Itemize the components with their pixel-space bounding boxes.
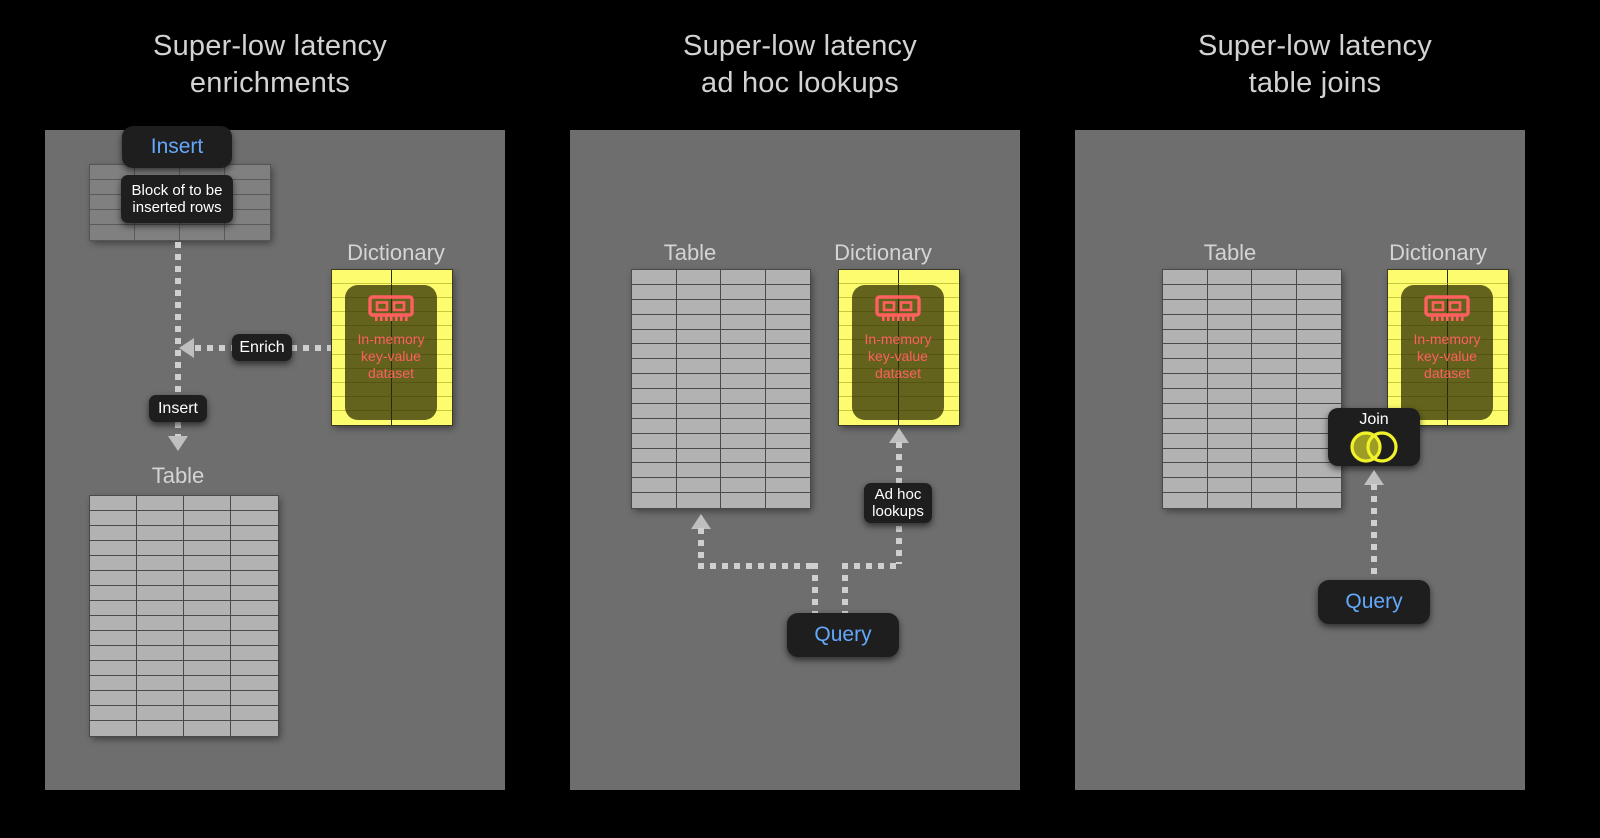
- connector-query-left-down: [812, 563, 818, 615]
- grid-cell: [90, 691, 137, 706]
- grid-cell: [137, 661, 184, 676]
- callout-join[interactable]: Join: [1328, 408, 1420, 466]
- grid-cell: [231, 541, 278, 556]
- grid-cell: [231, 661, 278, 676]
- grid-cell: [90, 631, 137, 646]
- in-memory-text-p3: In-memory key-value dataset: [1414, 331, 1481, 382]
- grid-cell: [677, 285, 722, 300]
- grid-cell: [1252, 404, 1297, 419]
- grid-cell: [677, 330, 722, 345]
- grid-cell: [1252, 270, 1297, 285]
- grid-cell: [1208, 463, 1253, 478]
- grid-cell: [632, 300, 677, 315]
- grid-cell: [90, 601, 137, 616]
- grid-cell: [1163, 434, 1208, 449]
- grid-cell: [677, 344, 722, 359]
- grid-cell: [184, 631, 231, 646]
- grid-cell: [184, 646, 231, 661]
- grid-cell: [766, 270, 811, 285]
- grid-cell: [632, 270, 677, 285]
- grid-cell: [766, 285, 811, 300]
- grid-cell: [677, 300, 722, 315]
- grid-cell: [721, 419, 766, 434]
- grid-cell: [231, 691, 278, 706]
- connector-query-right-horizontal: [842, 563, 902, 569]
- callout-ad-hoc-label: Ad hoc lookups: [872, 486, 924, 520]
- table-grid-p2: [632, 270, 810, 508]
- grid-cell: [184, 511, 231, 526]
- grid-cell: [1252, 359, 1297, 374]
- grid-cell: [1297, 389, 1342, 404]
- grid-cell: [137, 601, 184, 616]
- grid-cell: [766, 344, 811, 359]
- grid-cell: [1448, 270, 1508, 284]
- grid-cell: [1252, 300, 1297, 315]
- grid-cell: [766, 493, 811, 508]
- grid-cell: [135, 225, 180, 240]
- callout-query-p3-label: Query: [1345, 590, 1402, 614]
- grid-cell: [231, 586, 278, 601]
- grid-cell: [1297, 359, 1342, 374]
- grid-cell: [677, 374, 722, 389]
- grid-cell: [137, 721, 184, 736]
- grid-cell: [632, 463, 677, 478]
- panel-body-ad-hoc: Table Dictionary: [570, 130, 1020, 790]
- grid-cell: [1297, 285, 1342, 300]
- grid-cell: [137, 556, 184, 571]
- grid-cell: [766, 419, 811, 434]
- grid-cell: [90, 586, 137, 601]
- arrow-enrich-left: [179, 338, 194, 358]
- grid-cell: [721, 315, 766, 330]
- grid-cell: [1208, 374, 1253, 389]
- grid-cell: [766, 404, 811, 419]
- grid-cell: [677, 434, 722, 449]
- grid-cell: [632, 389, 677, 404]
- grid-cell: [184, 571, 231, 586]
- grid-cell: [231, 496, 278, 511]
- grid-cell: [137, 511, 184, 526]
- grid-cell: [90, 541, 137, 556]
- grid-cell: [1252, 434, 1297, 449]
- grid-cell: [90, 661, 137, 676]
- grid-cell: [1208, 434, 1253, 449]
- grid-cell: [225, 225, 270, 240]
- grid-cell: [766, 374, 811, 389]
- grid-cell: [839, 270, 899, 284]
- grid-cell: [137, 496, 184, 511]
- grid-cell: [1252, 463, 1297, 478]
- callout-block-rows-label: Block of to be inserted rows: [132, 182, 223, 216]
- callout-insert-mid[interactable]: Insert: [149, 395, 207, 422]
- grid-cell: [231, 676, 278, 691]
- grid-cell: [137, 706, 184, 721]
- grid-cell: [721, 300, 766, 315]
- grid-cell: [677, 359, 722, 374]
- label-table-p1: Table: [123, 463, 233, 489]
- grid-cell: [184, 691, 231, 706]
- grid-cell: [90, 571, 137, 586]
- grid-cell: [90, 496, 137, 511]
- grid-cell: [1163, 330, 1208, 345]
- grid-cell: [632, 359, 677, 374]
- grid-cell: [721, 285, 766, 300]
- grid-cell: [721, 344, 766, 359]
- callout-insert-top[interactable]: Insert: [122, 126, 232, 168]
- callout-query-p3[interactable]: Query: [1318, 580, 1430, 624]
- grid-cell: [392, 270, 452, 284]
- grid-cell: [632, 419, 677, 434]
- grid-cell: [137, 631, 184, 646]
- grid-cell: [90, 706, 137, 721]
- grid-cell: [1252, 330, 1297, 345]
- grid-cell: [677, 493, 722, 508]
- grid-cell: [1252, 315, 1297, 330]
- grid-cell: [1208, 449, 1253, 464]
- grid-cell: [1163, 463, 1208, 478]
- grid-cell: [1297, 270, 1342, 285]
- callout-insert-top-label: Insert: [151, 135, 204, 159]
- grid-cell: [1252, 344, 1297, 359]
- grid-cell: [137, 691, 184, 706]
- in-memory-text-p1: In-memory key-value dataset: [358, 331, 425, 382]
- grid-cell: [1163, 493, 1208, 508]
- grid-cell: [766, 300, 811, 315]
- grid-cell: [231, 631, 278, 646]
- grid-cell: [721, 434, 766, 449]
- grid-cell: [632, 344, 677, 359]
- grid-cell: [632, 449, 677, 464]
- grid-cell: [1208, 344, 1253, 359]
- label-table-p2: Table: [635, 240, 745, 266]
- grid-cell: [231, 556, 278, 571]
- grid-cell: [632, 374, 677, 389]
- grid-cell: [90, 511, 137, 526]
- connector-join-vertical: [1371, 484, 1377, 582]
- grid-cell: [766, 463, 811, 478]
- grid-cell: [1163, 419, 1208, 434]
- grid-cell: [1208, 359, 1253, 374]
- arrow-query-to-join: [1364, 470, 1384, 485]
- grid-cell: [677, 389, 722, 404]
- grid-cell: [137, 586, 184, 601]
- grid-cell: [90, 556, 137, 571]
- grid-cell: [721, 359, 766, 374]
- grid-cell: [721, 270, 766, 285]
- grid-cell: [90, 225, 135, 240]
- grid-cell: [1297, 300, 1342, 315]
- panel-table-joins: Super-low latency table joins Table: [1045, 0, 1585, 838]
- arrow-query-to-dictionary: [889, 428, 909, 443]
- in-memory-text-p2: In-memory key-value dataset: [865, 331, 932, 382]
- connector-query-left-horizontal: [698, 563, 818, 569]
- grid-cell: [184, 661, 231, 676]
- grid-cell: [184, 556, 231, 571]
- grid-cell: [1252, 374, 1297, 389]
- in-memory-plaque-p1: In-memory key-value dataset: [345, 285, 437, 420]
- grid-cell: [1163, 389, 1208, 404]
- venn-diagram-icon: [1343, 430, 1405, 464]
- grid-cell: [1297, 315, 1342, 330]
- grid-cell: [231, 526, 278, 541]
- grid-cell: [632, 330, 677, 345]
- grid-cell: [721, 493, 766, 508]
- grid-cell: [632, 478, 677, 493]
- panel-enrichments: Super-low latency enrichments Insert Blo…: [0, 0, 540, 838]
- grid-cell: [721, 478, 766, 493]
- grid-cell: [184, 496, 231, 511]
- diagram-canvas: Super-low latency enrichments Insert Blo…: [0, 0, 1600, 838]
- label-dictionary-p3: Dictionary: [1373, 240, 1503, 266]
- grid-cell: [1297, 330, 1342, 345]
- grid-cell: [1208, 315, 1253, 330]
- grid-cell: [137, 646, 184, 661]
- grid-cell: [1297, 493, 1342, 508]
- grid-cell: [90, 526, 137, 541]
- grid-cell: [184, 676, 231, 691]
- callout-join-label: Join: [1359, 411, 1388, 429]
- grid-cell: [721, 463, 766, 478]
- callout-ad-hoc-lookups[interactable]: Ad hoc lookups: [864, 483, 932, 523]
- in-memory-plaque-p3: In-memory key-value dataset: [1401, 285, 1493, 420]
- grid-cell: [1163, 374, 1208, 389]
- grid-cell: [90, 721, 137, 736]
- callout-block-rows[interactable]: Block of to be inserted rows: [121, 175, 233, 223]
- panel-title-table-joins: Super-low latency table joins: [1045, 28, 1585, 102]
- grid-cell: [1208, 404, 1253, 419]
- grid-cell: [1163, 344, 1208, 359]
- callout-insert-mid-label: Insert: [158, 400, 198, 418]
- label-dictionary-p1: Dictionary: [331, 240, 461, 266]
- table-grid-p3: [1163, 270, 1341, 508]
- panel-ad-hoc-lookups: Super-low latency ad hoc lookups Table: [530, 0, 1070, 838]
- grid-cell: [766, 478, 811, 493]
- grid-cell: [231, 511, 278, 526]
- grid-cell: [721, 374, 766, 389]
- grid-cell: [1297, 374, 1342, 389]
- grid-cell: [766, 434, 811, 449]
- grid-cell: [1163, 270, 1208, 285]
- grid-cell: [632, 315, 677, 330]
- grid-cell: [1208, 285, 1253, 300]
- grid-cell: [231, 646, 278, 661]
- grid-cell: [632, 404, 677, 419]
- grid-cell: [766, 330, 811, 345]
- grid-cell: [1208, 300, 1253, 315]
- grid-cell: [184, 601, 231, 616]
- grid-cell: [231, 721, 278, 736]
- grid-cell: [332, 270, 392, 284]
- table-grid-p1: [90, 496, 278, 736]
- grid-cell: [1252, 285, 1297, 300]
- grid-cell: [1252, 419, 1297, 434]
- grid-cell: [184, 721, 231, 736]
- grid-cell: [1163, 315, 1208, 330]
- grid-cell: [184, 616, 231, 631]
- grid-cell: [184, 586, 231, 601]
- grid-cell: [1163, 478, 1208, 493]
- grid-cell: [1388, 270, 1448, 284]
- panel-body-table-joins: Table Dictionary: [1075, 130, 1525, 790]
- grid-cell: [1163, 359, 1208, 374]
- grid-cell: [184, 526, 231, 541]
- arrow-insert-down: [168, 436, 188, 451]
- callout-query-p2-label: Query: [814, 623, 871, 647]
- label-dictionary-p2: Dictionary: [818, 240, 948, 266]
- memory-stick-icon: [368, 295, 414, 325]
- grid-cell: [137, 676, 184, 691]
- grid-cell: [231, 616, 278, 631]
- grid-cell: [1252, 389, 1297, 404]
- grid-cell: [632, 493, 677, 508]
- grid-cell: [137, 541, 184, 556]
- label-table-p3: Table: [1175, 240, 1285, 266]
- grid-cell: [677, 404, 722, 419]
- grid-cell: [1208, 478, 1253, 493]
- connector-query-right-down: [842, 563, 848, 615]
- grid-cell: [1252, 449, 1297, 464]
- grid-cell: [184, 706, 231, 721]
- in-memory-plaque-p2: In-memory key-value dataset: [852, 285, 944, 420]
- grid-cell: [632, 434, 677, 449]
- grid-cell: [677, 419, 722, 434]
- grid-cell: [180, 225, 225, 240]
- grid-cell: [721, 389, 766, 404]
- grid-cell: [677, 315, 722, 330]
- memory-stick-icon: [875, 295, 921, 325]
- grid-cell: [1297, 478, 1342, 493]
- grid-cell: [90, 646, 137, 661]
- grid-cell: [1208, 330, 1253, 345]
- grid-cell: [766, 359, 811, 374]
- grid-cell: [677, 478, 722, 493]
- panel-title-ad-hoc: Super-low latency ad hoc lookups: [530, 28, 1070, 102]
- callout-query-p2[interactable]: Query: [787, 613, 899, 657]
- connector-table-vertical: [698, 528, 704, 566]
- grid-cell: [184, 541, 231, 556]
- grid-cell: [231, 706, 278, 721]
- grid-cell: [1163, 285, 1208, 300]
- callout-enrich-label: Enrich: [239, 339, 284, 357]
- grid-cell: [721, 404, 766, 419]
- grid-cell: [632, 285, 677, 300]
- grid-cell: [1252, 493, 1297, 508]
- grid-cell: [677, 270, 722, 285]
- grid-cell: [1252, 478, 1297, 493]
- grid-cell: [1163, 300, 1208, 315]
- grid-cell: [137, 616, 184, 631]
- memory-stick-icon: [1424, 295, 1470, 325]
- grid-cell: [231, 571, 278, 586]
- grid-cell: [1163, 449, 1208, 464]
- panel-title-enrichments: Super-low latency enrichments: [0, 28, 540, 102]
- grid-cell: [1208, 270, 1253, 285]
- grid-cell: [1297, 344, 1342, 359]
- grid-cell: [137, 571, 184, 586]
- grid-cell: [137, 526, 184, 541]
- grid-cell: [677, 449, 722, 464]
- grid-cell: [766, 315, 811, 330]
- grid-cell: [899, 270, 959, 284]
- grid-cell: [1208, 389, 1253, 404]
- grid-cell: [721, 449, 766, 464]
- grid-cell: [1208, 493, 1253, 508]
- grid-cell: [90, 616, 137, 631]
- grid-cell: [231, 601, 278, 616]
- grid-cell: [1208, 419, 1253, 434]
- grid-cell: [677, 463, 722, 478]
- grid-cell: [766, 389, 811, 404]
- grid-cell: [90, 676, 137, 691]
- grid-cell: [1163, 404, 1208, 419]
- panel-body-enrichments: Insert Block of to be inserted rows Enri…: [45, 130, 505, 790]
- arrow-query-to-table: [691, 514, 711, 529]
- callout-enrich[interactable]: Enrich: [232, 334, 292, 361]
- grid-cell: [766, 449, 811, 464]
- grid-cell: [721, 330, 766, 345]
